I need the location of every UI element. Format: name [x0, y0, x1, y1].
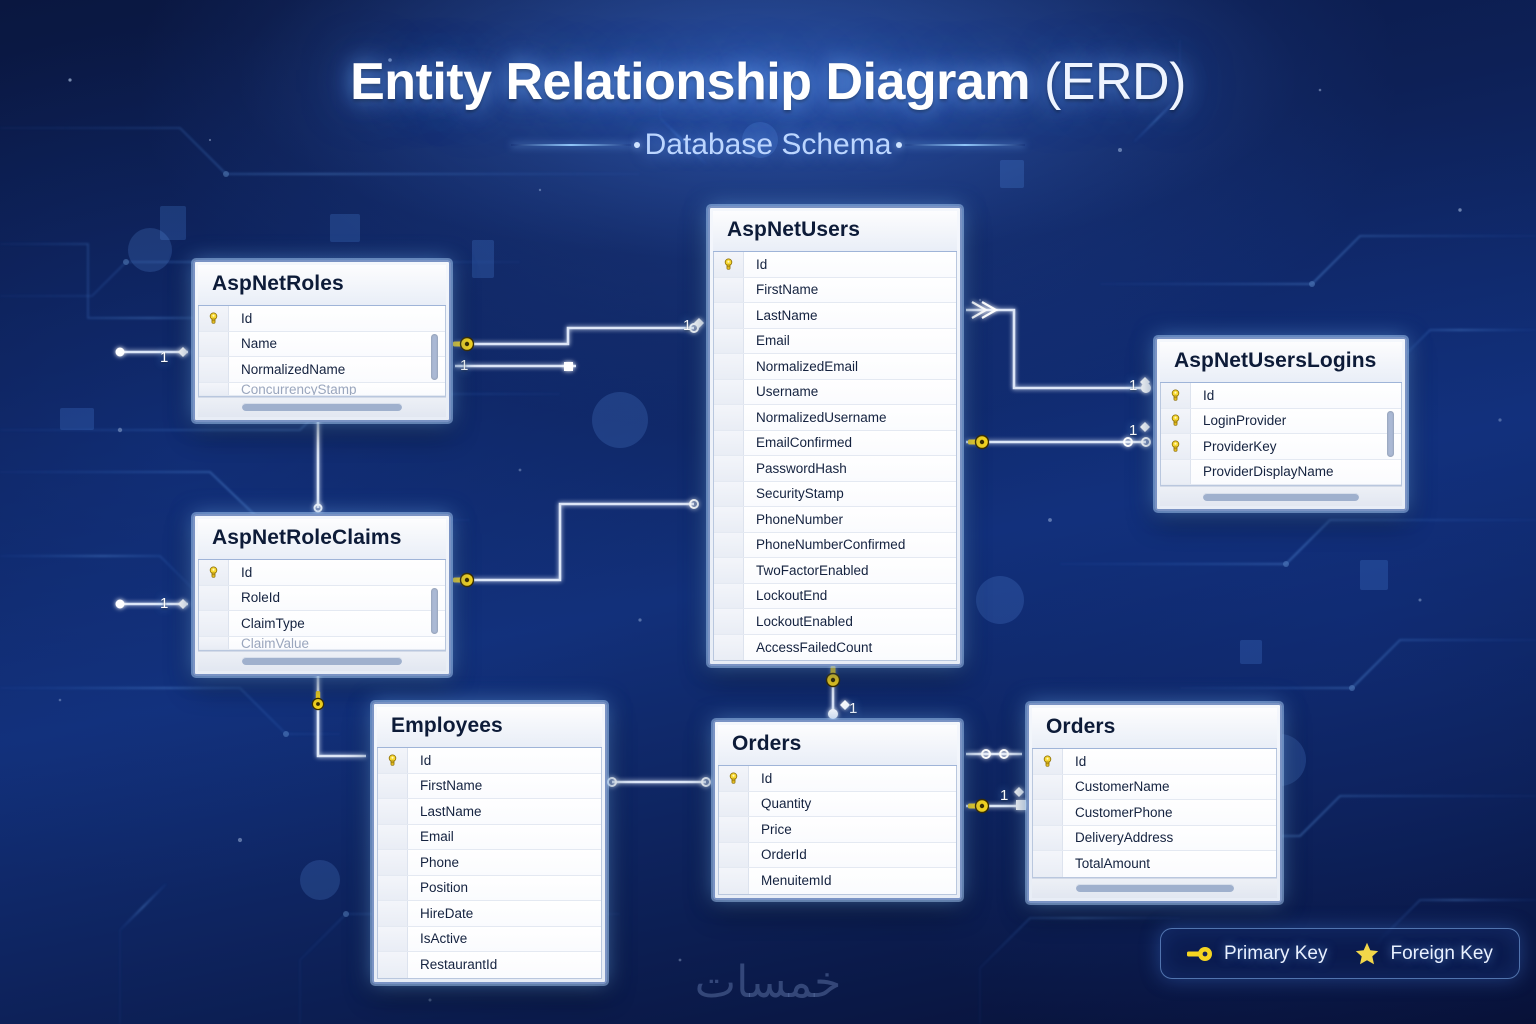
entity-fields-orders: IdCustomerNameCustomerPhoneDeliveryAddre…	[1032, 749, 1277, 878]
field-key-cell	[714, 354, 744, 379]
field-name: CustomerPhone	[1063, 805, 1173, 820]
primary-key-icon	[386, 754, 399, 767]
entity-fields-aspnetusers: IdFirstNameLastNameEmailNormalizedEmailU…	[713, 252, 957, 661]
field-row[interactable]: Email	[378, 825, 601, 851]
field-row[interactable]: Position	[378, 876, 601, 902]
primary-key-icon	[1041, 755, 1054, 768]
field-name: PhoneNumberConfirmed	[744, 537, 905, 552]
field-name: Name	[229, 336, 277, 351]
field-key-cell	[714, 609, 744, 634]
field-name: Email	[408, 829, 454, 844]
field-row[interactable]: HireDate	[378, 901, 601, 927]
field-name: TwoFactorEnabled	[744, 563, 869, 578]
entity-title-orderitems: Orders	[718, 725, 957, 766]
field-name: Id	[1191, 388, 1214, 403]
field-row[interactable]: Id	[378, 748, 601, 774]
page-subtitle: Database Schema	[645, 128, 892, 162]
field-key-cell	[199, 586, 229, 611]
page-title-bold: Entity Relationship Diagram	[350, 53, 1030, 111]
entity-table-orders[interactable]: OrdersIdCustomerNameCustomerPhoneDeliver…	[1027, 703, 1282, 903]
field-key-cell	[1161, 460, 1191, 485]
entity-table-aspnetusers[interactable]: AspNetUsersIdFirstNameLastNameEmailNorma…	[708, 206, 962, 666]
subtitle-rule-left	[511, 144, 631, 146]
entity-title-orders: Orders	[1032, 708, 1277, 749]
cardinality-label: 1	[160, 595, 168, 612]
field-name: Price	[749, 822, 792, 837]
field-key-cell	[714, 456, 744, 481]
entity-fields-aspnetroleclaims: IdRoleIdClaimTypeClaimValue	[198, 560, 446, 651]
field-row[interactable]: ProviderDisplayName	[1161, 460, 1401, 486]
primary-key-icon	[1169, 414, 1182, 427]
field-key-cell	[714, 380, 744, 405]
field-name: ProviderDisplayName	[1191, 464, 1334, 479]
subtitle-rule-right	[905, 144, 1025, 146]
vertical-scrollbar[interactable]	[431, 588, 438, 634]
field-key-cell	[1033, 775, 1063, 800]
field-key-cell	[719, 792, 749, 817]
field-key-cell-pk	[1161, 409, 1191, 434]
field-name: LoginProvider	[1191, 413, 1286, 428]
field-key-cell	[1033, 826, 1063, 851]
field-name: OrderId	[749, 847, 807, 862]
field-name: Id	[229, 311, 252, 326]
field-key-cell	[714, 278, 744, 303]
horizontal-scrollbar[interactable]	[198, 651, 446, 671]
field-row[interactable]: ClaimValue	[199, 637, 445, 650]
entity-fields-aspnetuserslogins: IdLoginProviderProviderKeyProviderDispla…	[1160, 383, 1402, 486]
field-key-cell	[714, 507, 744, 532]
field-name: TotalAmount	[1063, 856, 1150, 871]
field-key-cell	[199, 357, 229, 382]
field-name: Id	[229, 565, 252, 580]
primary-key-icon	[722, 258, 735, 271]
field-key-cell	[199, 611, 229, 636]
cardinality-label: 1	[1129, 377, 1137, 394]
field-row[interactable]: NormalizedName	[199, 357, 445, 383]
vertical-scrollbar[interactable]	[1387, 411, 1394, 457]
field-key-cell	[378, 774, 408, 799]
field-row[interactable]: Id	[199, 560, 445, 586]
field-row[interactable]: Id	[719, 766, 956, 792]
primary-key-icon	[207, 312, 220, 325]
horizontal-scrollbar-thumb[interactable]	[242, 403, 402, 411]
entity-title-aspnetroleclaims: AspNetRoleClaims	[198, 519, 446, 560]
field-key-cell-pk	[199, 560, 229, 585]
field-row[interactable]: CustomerName	[1033, 775, 1276, 801]
horizontal-scrollbar-thumb[interactable]	[1076, 884, 1234, 892]
field-row[interactable]: ClaimType	[199, 611, 445, 637]
field-name: HireDate	[408, 906, 473, 921]
field-row[interactable]: LockoutEnabled	[714, 609, 956, 635]
field-key-cell	[199, 383, 229, 395]
field-name: EmailConfirmed	[744, 435, 852, 450]
field-name: LockoutEnd	[744, 588, 827, 603]
entity-title-aspnetusers: AspNetUsers	[713, 211, 957, 252]
field-key-cell	[719, 843, 749, 868]
field-row[interactable]: FirstName	[714, 278, 956, 304]
cardinality-label: 1	[160, 349, 168, 366]
field-key-cell	[1033, 800, 1063, 825]
entity-table-orderitems[interactable]: OrdersIdQuantityPriceOrderIdMenuitemId	[713, 720, 962, 900]
field-key-cell	[199, 637, 229, 649]
field-name: MenuitemId	[749, 873, 832, 888]
field-row[interactable]: Email	[714, 329, 956, 355]
erd-canvas: Entity Relationship Diagram (ERD) Databa…	[0, 0, 1536, 1024]
field-key-cell	[714, 533, 744, 558]
field-row[interactable]: LastName	[714, 303, 956, 329]
field-row[interactable]: PhoneNumber	[714, 507, 956, 533]
subtitle-row: Database Schema	[0, 128, 1536, 162]
entity-table-aspnetroleclaims[interactable]: AspNetRoleClaimsIdRoleIdClaimTypeClaimVa…	[193, 514, 451, 676]
field-name: ConcurrencyStamp	[229, 383, 357, 396]
field-key-cell	[714, 329, 744, 354]
field-name: CustomerName	[1063, 779, 1170, 794]
field-key-cell	[714, 584, 744, 609]
field-key-cell-pk	[1161, 383, 1191, 408]
field-key-cell	[714, 635, 744, 661]
cardinality-label: 1	[683, 317, 691, 334]
field-row[interactable]: Price	[719, 817, 956, 843]
entity-title-aspnetuserslogins: AspNetUsersLogins	[1160, 342, 1402, 383]
page-title-light: (ERD)	[1044, 53, 1186, 111]
entity-fields-employees: IdFirstNameLastNameEmailPhonePositionHir…	[377, 748, 602, 979]
horizontal-scrollbar[interactable]	[198, 397, 446, 417]
field-row[interactable]: IsActive	[378, 927, 601, 953]
field-row[interactable]: PhoneNumberConfirmed	[714, 533, 956, 559]
primary-key-icon	[727, 772, 740, 785]
field-row[interactable]: Id	[199, 306, 445, 332]
field-name: Phone	[408, 855, 459, 870]
field-key-cell	[378, 901, 408, 926]
entity-table-employees[interactable]: EmployeesIdFirstNameLastNameEmailPhonePo…	[372, 702, 607, 984]
field-name: LastName	[408, 804, 482, 819]
entity-fields-orderitems: IdQuantityPriceOrderIdMenuitemId	[718, 766, 957, 895]
field-row[interactable]: EmailConfirmed	[714, 431, 956, 457]
field-row[interactable]: Name	[199, 332, 445, 358]
field-key-cell	[714, 558, 744, 583]
field-name: Id	[408, 753, 431, 768]
field-row[interactable]: CustomerPhone	[1033, 800, 1276, 826]
field-name: LastName	[744, 308, 818, 323]
field-key-cell	[378, 799, 408, 824]
field-row[interactable]: SecurityStamp	[714, 482, 956, 508]
watermark: خمسات	[0, 957, 1536, 1008]
field-name: SecurityStamp	[744, 486, 844, 501]
field-row[interactable]: TotalAmount	[1033, 851, 1276, 877]
field-name: NormalizedEmail	[744, 359, 858, 374]
cardinality-label: 1	[849, 700, 857, 717]
field-name: ClaimType	[229, 616, 305, 631]
field-key-cell	[1033, 851, 1063, 877]
field-name: RoleId	[229, 590, 280, 605]
field-name: Username	[744, 384, 818, 399]
field-row[interactable]: LoginProvider	[1161, 409, 1401, 435]
field-row[interactable]: PasswordHash	[714, 456, 956, 482]
field-name: Email	[744, 333, 790, 348]
field-row[interactable]: AccessFailedCount	[714, 635, 956, 661]
field-name: FirstName	[744, 282, 818, 297]
horizontal-scrollbar[interactable]	[1032, 878, 1277, 898]
field-key-cell	[714, 405, 744, 430]
field-name: DeliveryAddress	[1063, 830, 1173, 845]
page-title: Entity Relationship Diagram (ERD)	[0, 52, 1536, 112]
field-key-cell	[378, 927, 408, 952]
cardinality-label: 1	[1129, 422, 1137, 439]
field-name: ProviderKey	[1191, 439, 1277, 454]
field-key-cell-pk	[1161, 434, 1191, 459]
field-row[interactable]: Id	[714, 252, 956, 278]
primary-key-icon	[1169, 389, 1182, 402]
field-name: PhoneNumber	[744, 512, 843, 527]
field-name: LockoutEnabled	[744, 614, 853, 629]
horizontal-scrollbar-thumb[interactable]	[242, 657, 402, 665]
field-name: Id	[1063, 754, 1086, 769]
field-name: FirstName	[408, 778, 482, 793]
field-row[interactable]: NormalizedEmail	[714, 354, 956, 380]
field-row[interactable]: MenuitemId	[719, 868, 956, 894]
field-row[interactable]: TwoFactorEnabled	[714, 558, 956, 584]
cardinality-label: 1	[1000, 787, 1008, 804]
field-key-cell	[378, 825, 408, 850]
field-name: Id	[749, 771, 772, 786]
field-name: Position	[408, 880, 468, 895]
entity-title-employees: Employees	[377, 707, 602, 748]
horizontal-scrollbar-thumb[interactable]	[1203, 493, 1359, 501]
field-key-cell	[714, 482, 744, 507]
field-name: AccessFailedCount	[744, 640, 872, 655]
field-row[interactable]: OrderId	[719, 843, 956, 869]
field-row[interactable]: LastName	[378, 799, 601, 825]
entity-title-aspnetroles: AspNetRoles	[198, 265, 446, 306]
field-key-cell	[719, 868, 749, 894]
vertical-scrollbar[interactable]	[431, 334, 438, 380]
field-key-cell-pk	[719, 766, 749, 791]
field-key-cell	[199, 332, 229, 357]
field-key-cell-pk	[1033, 749, 1063, 774]
horizontal-scrollbar[interactable]	[1160, 486, 1402, 506]
field-row[interactable]: RoleId	[199, 586, 445, 612]
field-row[interactable]: Quantity	[719, 792, 956, 818]
field-name: PasswordHash	[744, 461, 847, 476]
primary-key-icon	[1169, 440, 1182, 453]
field-name: IsActive	[408, 931, 467, 946]
field-key-cell	[378, 876, 408, 901]
entity-table-aspnetuserslogins[interactable]: AspNetUsersLoginsIdLoginProviderProvider…	[1155, 337, 1407, 511]
field-name: Quantity	[749, 796, 811, 811]
field-row[interactable]: FirstName	[378, 774, 601, 800]
field-row[interactable]: DeliveryAddress	[1033, 826, 1276, 852]
field-name: Id	[744, 257, 767, 272]
page-header: Entity Relationship Diagram (ERD) Databa…	[0, 52, 1536, 162]
entity-table-aspnetroles[interactable]: AspNetRolesIdNameNormalizedNameConcurren…	[193, 260, 451, 422]
field-key-cell	[719, 817, 749, 842]
field-row[interactable]: Phone	[378, 850, 601, 876]
entity-fields-aspnetroles: IdNameNormalizedNameConcurrencyStamp	[198, 306, 446, 397]
field-key-cell	[378, 850, 408, 875]
field-row[interactable]: Id	[1161, 383, 1401, 409]
field-key-cell-pk	[199, 306, 229, 331]
field-name: NormalizedName	[229, 362, 345, 377]
field-key-cell	[714, 303, 744, 328]
field-name: NormalizedUsername	[744, 410, 887, 425]
field-name: ClaimValue	[229, 637, 309, 650]
field-key-cell-pk	[714, 252, 744, 277]
cardinality-label: 1	[460, 357, 468, 374]
field-row[interactable]: Id	[1033, 749, 1276, 775]
field-key-cell-pk	[378, 748, 408, 773]
field-row[interactable]: Username	[714, 380, 956, 406]
field-row[interactable]: ConcurrencyStamp	[199, 383, 445, 396]
primary-key-icon	[207, 566, 220, 579]
field-row[interactable]: ProviderKey	[1161, 434, 1401, 460]
field-row[interactable]: LockoutEnd	[714, 584, 956, 610]
field-key-cell	[714, 431, 744, 456]
field-row[interactable]: NormalizedUsername	[714, 405, 956, 431]
